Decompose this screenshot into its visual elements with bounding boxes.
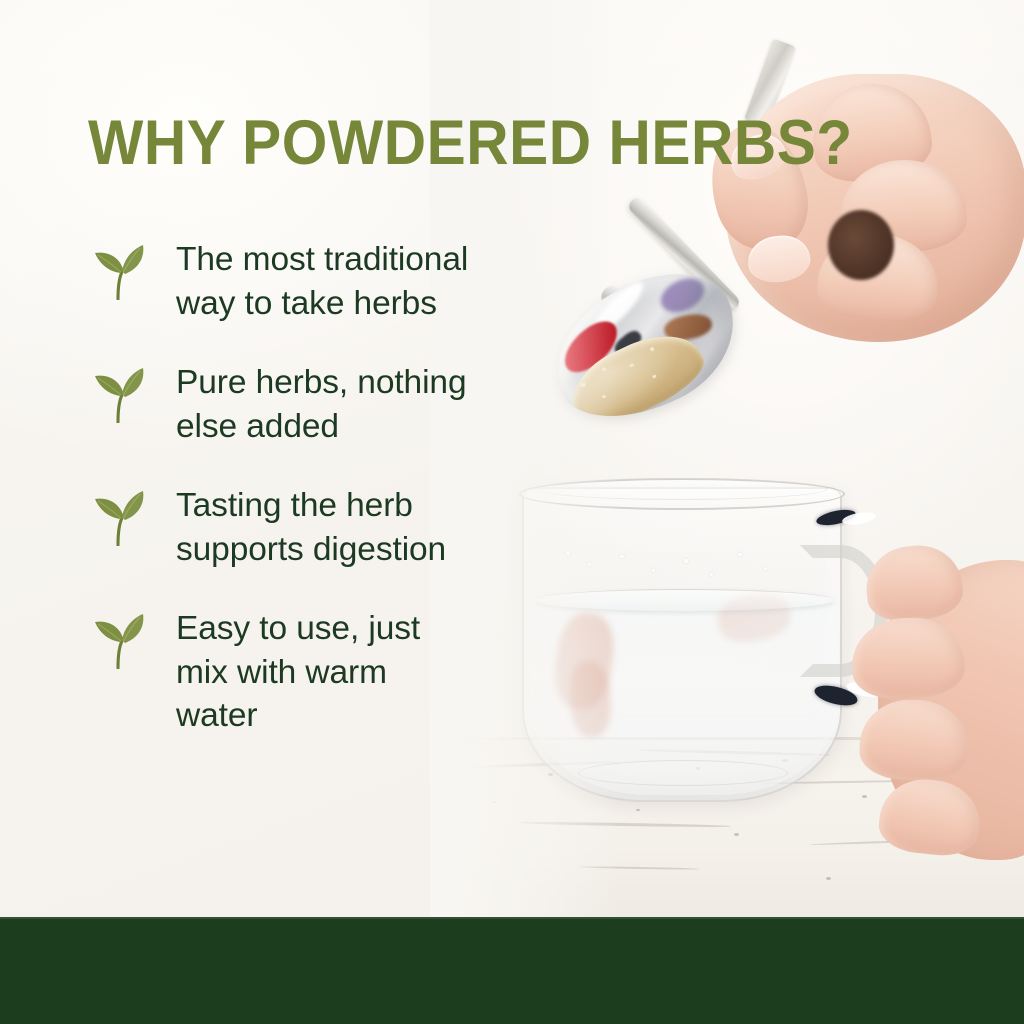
benefits-list: The most traditional way to take herbs P… [88,238,568,774]
list-item-label: The most traditional way to take herbs [148,238,468,325]
leaf-sprout-icon [88,365,148,423]
list-item: Tasting the herb supports digestion [88,484,568,571]
page-title: WHY POWDERED HERBS? [88,112,853,175]
infographic-canvas: WHY POWDERED HERBS? The most traditional… [0,0,1024,1024]
text-content-layer: WHY POWDERED HERBS? The most traditional… [0,0,1024,917]
leaf-sprout-icon [88,611,148,669]
leaf-sprout-icon [88,488,148,546]
list-item-label: Pure herbs, nothing else added [148,361,467,448]
leaf-sprout-icon [88,242,148,300]
footer-bar [0,917,1024,1024]
list-item-label: Tasting the herb supports digestion [148,484,446,571]
list-item: The most traditional way to take herbs [88,238,568,325]
list-item: Easy to use, just mix with warm water [88,607,568,738]
list-item: Pure herbs, nothing else added [88,361,568,448]
list-item-label: Easy to use, just mix with warm water [148,607,420,738]
